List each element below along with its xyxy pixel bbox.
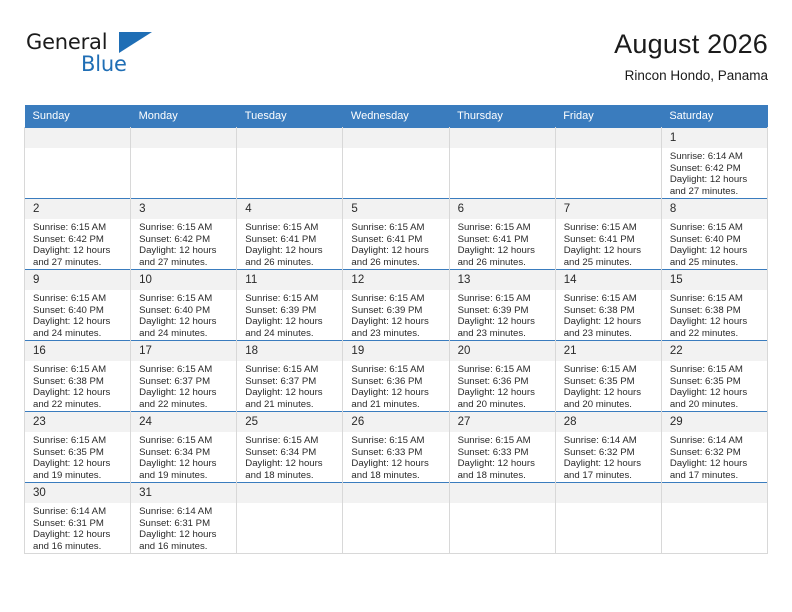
day-number: 1	[662, 128, 767, 148]
sunset-text: Sunset: 6:38 PM	[564, 305, 655, 317]
logo-triangle-icon	[119, 32, 152, 53]
general-blue-logo[interactable]: General Blue	[24, 28, 164, 84]
day-details: Sunrise: 6:14 AMSunset: 6:32 PMDaylight:…	[556, 432, 661, 481]
daylight-text: Daylight: 12 hours and 17 minutes.	[670, 458, 761, 481]
day-number-placeholder	[237, 128, 342, 148]
weekday-header-tuesday: Tuesday	[237, 105, 343, 128]
sunrise-text: Sunrise: 6:15 AM	[564, 364, 655, 376]
sunrise-text: Sunrise: 6:15 AM	[33, 364, 124, 376]
day-details: Sunrise: 6:15 AMSunset: 6:40 PMDaylight:…	[662, 219, 767, 268]
calendar-day-cell[interactable]: 28Sunrise: 6:14 AMSunset: 6:32 PMDayligh…	[555, 412, 661, 483]
sunrise-text: Sunrise: 6:15 AM	[33, 293, 124, 305]
sunset-text: Sunset: 6:39 PM	[245, 305, 336, 317]
sunrise-text: Sunrise: 6:14 AM	[33, 506, 124, 518]
daylight-text: Daylight: 12 hours and 24 minutes.	[245, 316, 336, 339]
daylight-text: Daylight: 12 hours and 26 minutes.	[245, 245, 336, 268]
weekday-header-friday: Friday	[555, 105, 661, 128]
weekday-header-monday: Monday	[131, 105, 237, 128]
day-number-placeholder	[556, 483, 661, 503]
daylight-text: Daylight: 12 hours and 20 minutes.	[458, 387, 549, 410]
calendar-day-cell-empty	[237, 483, 343, 554]
calendar-week-row: 23Sunrise: 6:15 AMSunset: 6:35 PMDayligh…	[25, 412, 768, 483]
sunrise-text: Sunrise: 6:15 AM	[351, 364, 442, 376]
calendar-day-cell[interactable]: 24Sunrise: 6:15 AMSunset: 6:34 PMDayligh…	[131, 412, 237, 483]
calendar-body: 1Sunrise: 6:14 AMSunset: 6:42 PMDaylight…	[25, 128, 768, 554]
day-number: 9	[25, 270, 130, 290]
day-number: 18	[237, 341, 342, 361]
daylight-text: Daylight: 12 hours and 20 minutes.	[670, 387, 761, 410]
sunset-text: Sunset: 6:42 PM	[670, 163, 761, 175]
sunrise-text: Sunrise: 6:15 AM	[245, 293, 336, 305]
calendar-day-cell[interactable]: 7Sunrise: 6:15 AMSunset: 6:41 PMDaylight…	[555, 199, 661, 270]
day-number-placeholder	[556, 128, 661, 148]
sunrise-text: Sunrise: 6:15 AM	[564, 293, 655, 305]
page-subtitle: Rincon Hondo, Panama	[614, 66, 768, 86]
sunrise-text: Sunrise: 6:14 AM	[670, 435, 761, 447]
daylight-text: Daylight: 12 hours and 22 minutes.	[33, 387, 124, 410]
calendar-day-cell[interactable]: 29Sunrise: 6:14 AMSunset: 6:32 PMDayligh…	[661, 412, 767, 483]
day-details: Sunrise: 6:15 AMSunset: 6:42 PMDaylight:…	[25, 219, 130, 268]
day-number: 14	[556, 270, 661, 290]
calendar-day-cell[interactable]: 9Sunrise: 6:15 AMSunset: 6:40 PMDaylight…	[25, 270, 131, 341]
calendar-day-cell-empty	[449, 483, 555, 554]
calendar-day-cell[interactable]: 23Sunrise: 6:15 AMSunset: 6:35 PMDayligh…	[25, 412, 131, 483]
sunset-text: Sunset: 6:42 PM	[139, 234, 230, 246]
day-number: 12	[343, 270, 448, 290]
calendar-day-cell-empty	[343, 128, 449, 199]
calendar-week-row: 2Sunrise: 6:15 AMSunset: 6:42 PMDaylight…	[25, 199, 768, 270]
daylight-text: Daylight: 12 hours and 23 minutes.	[458, 316, 549, 339]
weekday-header-thursday: Thursday	[449, 105, 555, 128]
logo-word-general: General	[26, 30, 107, 54]
sunrise-text: Sunrise: 6:15 AM	[139, 293, 230, 305]
sunset-text: Sunset: 6:31 PM	[33, 518, 124, 530]
day-number: 4	[237, 199, 342, 219]
sunset-text: Sunset: 6:41 PM	[245, 234, 336, 246]
sunrise-text: Sunrise: 6:15 AM	[245, 435, 336, 447]
calendar-day-cell-empty	[555, 483, 661, 554]
calendar-day-cell[interactable]: 3Sunrise: 6:15 AMSunset: 6:42 PMDaylight…	[131, 199, 237, 270]
sunset-text: Sunset: 6:38 PM	[670, 305, 761, 317]
day-details: Sunrise: 6:15 AMSunset: 6:41 PMDaylight:…	[556, 219, 661, 268]
day-number: 28	[556, 412, 661, 432]
sunrise-text: Sunrise: 6:15 AM	[245, 222, 336, 234]
day-number: 30	[25, 483, 130, 503]
sunset-text: Sunset: 6:38 PM	[33, 376, 124, 388]
daylight-text: Daylight: 12 hours and 21 minutes.	[351, 387, 442, 410]
daylight-text: Daylight: 12 hours and 16 minutes.	[33, 529, 124, 552]
daylight-text: Daylight: 12 hours and 26 minutes.	[351, 245, 442, 268]
day-details: Sunrise: 6:15 AMSunset: 6:39 PMDaylight:…	[237, 290, 342, 339]
sunrise-text: Sunrise: 6:14 AM	[670, 151, 761, 163]
day-number: 5	[343, 199, 448, 219]
day-details: Sunrise: 6:15 AMSunset: 6:35 PMDaylight:…	[662, 361, 767, 410]
calendar-day-cell[interactable]: 17Sunrise: 6:15 AMSunset: 6:37 PMDayligh…	[131, 341, 237, 412]
day-number: 31	[131, 483, 236, 503]
day-number-placeholder	[237, 483, 342, 503]
calendar-day-cell[interactable]: 8Sunrise: 6:15 AMSunset: 6:40 PMDaylight…	[661, 199, 767, 270]
day-number-placeholder	[343, 483, 448, 503]
calendar-day-cell[interactable]: 22Sunrise: 6:15 AMSunset: 6:35 PMDayligh…	[661, 341, 767, 412]
calendar-day-cell[interactable]: 14Sunrise: 6:15 AMSunset: 6:38 PMDayligh…	[555, 270, 661, 341]
day-number-placeholder	[343, 128, 448, 148]
day-number: 13	[450, 270, 555, 290]
calendar-day-cell[interactable]: 12Sunrise: 6:15 AMSunset: 6:39 PMDayligh…	[343, 270, 449, 341]
daylight-text: Daylight: 12 hours and 24 minutes.	[139, 316, 230, 339]
sunrise-text: Sunrise: 6:15 AM	[33, 222, 124, 234]
daylight-text: Daylight: 12 hours and 19 minutes.	[139, 458, 230, 481]
day-number: 27	[450, 412, 555, 432]
sunset-text: Sunset: 6:42 PM	[33, 234, 124, 246]
day-details: Sunrise: 6:15 AMSunset: 6:38 PMDaylight:…	[25, 361, 130, 410]
calendar-day-cell[interactable]: 20Sunrise: 6:15 AMSunset: 6:36 PMDayligh…	[449, 341, 555, 412]
calendar-day-cell-empty	[237, 128, 343, 199]
sunset-text: Sunset: 6:37 PM	[245, 376, 336, 388]
calendar-week-row: 30Sunrise: 6:14 AMSunset: 6:31 PMDayligh…	[25, 483, 768, 554]
sunset-text: Sunset: 6:40 PM	[33, 305, 124, 317]
day-number: 7	[556, 199, 661, 219]
day-details: Sunrise: 6:14 AMSunset: 6:31 PMDaylight:…	[25, 503, 130, 552]
day-number-placeholder	[450, 483, 555, 503]
daylight-text: Daylight: 12 hours and 23 minutes.	[564, 316, 655, 339]
sunset-text: Sunset: 6:33 PM	[458, 447, 549, 459]
day-number: 20	[450, 341, 555, 361]
weekday-header-row: Sunday Monday Tuesday Wednesday Thursday…	[25, 105, 768, 128]
calendar-week-row: 1Sunrise: 6:14 AMSunset: 6:42 PMDaylight…	[25, 128, 768, 199]
daylight-text: Daylight: 12 hours and 18 minutes.	[245, 458, 336, 481]
day-number-placeholder	[662, 483, 767, 503]
calendar-day-cell-empty	[661, 483, 767, 554]
day-details: Sunrise: 6:15 AMSunset: 6:36 PMDaylight:…	[343, 361, 448, 410]
sunrise-text: Sunrise: 6:15 AM	[670, 222, 761, 234]
calendar-day-cell[interactable]: 25Sunrise: 6:15 AMSunset: 6:34 PMDayligh…	[237, 412, 343, 483]
calendar-day-cell-empty	[25, 128, 131, 199]
calendar-day-cell[interactable]: 19Sunrise: 6:15 AMSunset: 6:36 PMDayligh…	[343, 341, 449, 412]
daylight-text: Daylight: 12 hours and 23 minutes.	[351, 316, 442, 339]
sunrise-sunset-calendar: Sunday Monday Tuesday Wednesday Thursday…	[24, 105, 768, 554]
sunset-text: Sunset: 6:36 PM	[458, 376, 549, 388]
day-number: 23	[25, 412, 130, 432]
sunset-text: Sunset: 6:41 PM	[351, 234, 442, 246]
sunrise-text: Sunrise: 6:15 AM	[458, 435, 549, 447]
daylight-text: Daylight: 12 hours and 21 minutes.	[245, 387, 336, 410]
day-details: Sunrise: 6:15 AMSunset: 6:37 PMDaylight:…	[237, 361, 342, 410]
day-number: 29	[662, 412, 767, 432]
calendar-day-cell[interactable]: 21Sunrise: 6:15 AMSunset: 6:35 PMDayligh…	[555, 341, 661, 412]
day-number: 19	[343, 341, 448, 361]
calendar-day-cell-empty	[449, 128, 555, 199]
calendar-day-cell[interactable]: 31Sunrise: 6:14 AMSunset: 6:31 PMDayligh…	[131, 483, 237, 554]
daylight-text: Daylight: 12 hours and 22 minutes.	[139, 387, 230, 410]
sunrise-text: Sunrise: 6:15 AM	[670, 364, 761, 376]
sunrise-text: Sunrise: 6:15 AM	[139, 222, 230, 234]
sunrise-text: Sunrise: 6:15 AM	[33, 435, 124, 447]
day-details: Sunrise: 6:15 AMSunset: 6:40 PMDaylight:…	[131, 290, 236, 339]
calendar-day-cell-empty	[343, 483, 449, 554]
day-number: 11	[237, 270, 342, 290]
calendar-day-cell-empty	[131, 128, 237, 199]
daylight-text: Daylight: 12 hours and 17 minutes.	[564, 458, 655, 481]
day-number: 16	[25, 341, 130, 361]
day-number: 6	[450, 199, 555, 219]
sunrise-text: Sunrise: 6:15 AM	[351, 293, 442, 305]
daylight-text: Daylight: 12 hours and 18 minutes.	[351, 458, 442, 481]
day-details: Sunrise: 6:14 AMSunset: 6:32 PMDaylight:…	[662, 432, 767, 481]
title-block: August 2026 Rincon Hondo, Panama	[614, 28, 768, 86]
day-details: Sunrise: 6:15 AMSunset: 6:41 PMDaylight:…	[450, 219, 555, 268]
sunset-text: Sunset: 6:32 PM	[670, 447, 761, 459]
daylight-text: Daylight: 12 hours and 20 minutes.	[564, 387, 655, 410]
day-number: 24	[131, 412, 236, 432]
sunrise-text: Sunrise: 6:15 AM	[458, 222, 549, 234]
day-number: 17	[131, 341, 236, 361]
day-number: 8	[662, 199, 767, 219]
logo-word-blue: Blue	[81, 52, 127, 76]
sunset-text: Sunset: 6:31 PM	[139, 518, 230, 530]
sunrise-text: Sunrise: 6:15 AM	[458, 364, 549, 376]
day-details: Sunrise: 6:15 AMSunset: 6:35 PMDaylight:…	[25, 432, 130, 481]
day-details: Sunrise: 6:15 AMSunset: 6:40 PMDaylight:…	[25, 290, 130, 339]
day-details: Sunrise: 6:15 AMSunset: 6:39 PMDaylight:…	[450, 290, 555, 339]
day-number-placeholder	[450, 128, 555, 148]
day-details: Sunrise: 6:15 AMSunset: 6:36 PMDaylight:…	[450, 361, 555, 410]
day-details: Sunrise: 6:14 AMSunset: 6:42 PMDaylight:…	[662, 148, 767, 197]
day-details: Sunrise: 6:15 AMSunset: 6:38 PMDaylight:…	[662, 290, 767, 339]
calendar-day-cell[interactable]: 10Sunrise: 6:15 AMSunset: 6:40 PMDayligh…	[131, 270, 237, 341]
daylight-text: Daylight: 12 hours and 18 minutes.	[458, 458, 549, 481]
sunset-text: Sunset: 6:35 PM	[564, 376, 655, 388]
calendar-day-cell[interactable]: 4Sunrise: 6:15 AMSunset: 6:41 PMDaylight…	[237, 199, 343, 270]
sunset-text: Sunset: 6:32 PM	[564, 447, 655, 459]
weekday-header-sunday: Sunday	[25, 105, 131, 128]
day-details: Sunrise: 6:15 AMSunset: 6:34 PMDaylight:…	[237, 432, 342, 481]
sunrise-text: Sunrise: 6:14 AM	[564, 435, 655, 447]
calendar-day-cell[interactable]: 15Sunrise: 6:15 AMSunset: 6:38 PMDayligh…	[661, 270, 767, 341]
calendar-day-cell[interactable]: 5Sunrise: 6:15 AMSunset: 6:41 PMDaylight…	[343, 199, 449, 270]
day-details: Sunrise: 6:15 AMSunset: 6:34 PMDaylight:…	[131, 432, 236, 481]
daylight-text: Daylight: 12 hours and 19 minutes.	[33, 458, 124, 481]
calendar-day-cell[interactable]: 16Sunrise: 6:15 AMSunset: 6:38 PMDayligh…	[25, 341, 131, 412]
calendar-week-row: 16Sunrise: 6:15 AMSunset: 6:38 PMDayligh…	[25, 341, 768, 412]
day-number: 21	[556, 341, 661, 361]
sunrise-text: Sunrise: 6:15 AM	[139, 364, 230, 376]
sunrise-text: Sunrise: 6:15 AM	[670, 293, 761, 305]
page-header: General Blue August 2026 Rincon Hondo, P…	[24, 28, 768, 100]
sunrise-text: Sunrise: 6:15 AM	[351, 435, 442, 447]
day-number: 2	[25, 199, 130, 219]
sunrise-text: Sunrise: 6:15 AM	[245, 364, 336, 376]
calendar-day-cell[interactable]: 30Sunrise: 6:14 AMSunset: 6:31 PMDayligh…	[25, 483, 131, 554]
calendar-day-cell[interactable]: 26Sunrise: 6:15 AMSunset: 6:33 PMDayligh…	[343, 412, 449, 483]
day-number-placeholder	[131, 128, 236, 148]
day-number: 26	[343, 412, 448, 432]
sunrise-text: Sunrise: 6:15 AM	[458, 293, 549, 305]
sunrise-text: Sunrise: 6:15 AM	[351, 222, 442, 234]
day-details: Sunrise: 6:15 AMSunset: 6:33 PMDaylight:…	[343, 432, 448, 481]
daylight-text: Daylight: 12 hours and 26 minutes.	[458, 245, 549, 268]
daylight-text: Daylight: 12 hours and 24 minutes.	[33, 316, 124, 339]
daylight-text: Daylight: 12 hours and 16 minutes.	[139, 529, 230, 552]
page-title: August 2026	[614, 28, 768, 60]
day-details: Sunrise: 6:15 AMSunset: 6:42 PMDaylight:…	[131, 219, 236, 268]
sunset-text: Sunset: 6:34 PM	[245, 447, 336, 459]
sunrise-text: Sunrise: 6:15 AM	[564, 222, 655, 234]
weekday-header-wednesday: Wednesday	[343, 105, 449, 128]
day-details: Sunrise: 6:15 AMSunset: 6:41 PMDaylight:…	[343, 219, 448, 268]
day-details: Sunrise: 6:14 AMSunset: 6:31 PMDaylight:…	[131, 503, 236, 552]
sunset-text: Sunset: 6:35 PM	[670, 376, 761, 388]
weekday-header-saturday: Saturday	[661, 105, 767, 128]
calendar-day-cell-empty	[555, 128, 661, 199]
calendar-page: General Blue August 2026 Rincon Hondo, P…	[0, 0, 792, 612]
calendar-day-cell[interactable]: 18Sunrise: 6:15 AMSunset: 6:37 PMDayligh…	[237, 341, 343, 412]
daylight-text: Daylight: 12 hours and 22 minutes.	[670, 316, 761, 339]
calendar-day-cell[interactable]: 27Sunrise: 6:15 AMSunset: 6:33 PMDayligh…	[449, 412, 555, 483]
calendar-day-cell[interactable]: 2Sunrise: 6:15 AMSunset: 6:42 PMDaylight…	[25, 199, 131, 270]
sunset-text: Sunset: 6:39 PM	[351, 305, 442, 317]
sunset-text: Sunset: 6:41 PM	[458, 234, 549, 246]
calendar-week-row: 9Sunrise: 6:15 AMSunset: 6:40 PMDaylight…	[25, 270, 768, 341]
calendar-day-cell[interactable]: 6Sunrise: 6:15 AMSunset: 6:41 PMDaylight…	[449, 199, 555, 270]
calendar-day-cell[interactable]: 1Sunrise: 6:14 AMSunset: 6:42 PMDaylight…	[661, 128, 767, 199]
sunset-text: Sunset: 6:37 PM	[139, 376, 230, 388]
sunset-text: Sunset: 6:34 PM	[139, 447, 230, 459]
daylight-text: Daylight: 12 hours and 27 minutes.	[33, 245, 124, 268]
sunset-text: Sunset: 6:35 PM	[33, 447, 124, 459]
sunrise-text: Sunrise: 6:14 AM	[139, 506, 230, 518]
day-details: Sunrise: 6:15 AMSunset: 6:39 PMDaylight:…	[343, 290, 448, 339]
sunset-text: Sunset: 6:41 PM	[564, 234, 655, 246]
sunset-text: Sunset: 6:40 PM	[139, 305, 230, 317]
daylight-text: Daylight: 12 hours and 27 minutes.	[139, 245, 230, 268]
daylight-text: Daylight: 12 hours and 25 minutes.	[564, 245, 655, 268]
day-details: Sunrise: 6:15 AMSunset: 6:35 PMDaylight:…	[556, 361, 661, 410]
day-number-placeholder	[25, 128, 130, 148]
day-number: 10	[131, 270, 236, 290]
day-number: 25	[237, 412, 342, 432]
day-number: 3	[131, 199, 236, 219]
day-details: Sunrise: 6:15 AMSunset: 6:38 PMDaylight:…	[556, 290, 661, 339]
calendar-day-cell[interactable]: 11Sunrise: 6:15 AMSunset: 6:39 PMDayligh…	[237, 270, 343, 341]
sunset-text: Sunset: 6:40 PM	[670, 234, 761, 246]
sunset-text: Sunset: 6:36 PM	[351, 376, 442, 388]
sunset-text: Sunset: 6:39 PM	[458, 305, 549, 317]
day-number: 22	[662, 341, 767, 361]
daylight-text: Daylight: 12 hours and 25 minutes.	[670, 245, 761, 268]
day-details: Sunrise: 6:15 AMSunset: 6:37 PMDaylight:…	[131, 361, 236, 410]
calendar-day-cell[interactable]: 13Sunrise: 6:15 AMSunset: 6:39 PMDayligh…	[449, 270, 555, 341]
sunset-text: Sunset: 6:33 PM	[351, 447, 442, 459]
sunrise-text: Sunrise: 6:15 AM	[139, 435, 230, 447]
daylight-text: Daylight: 12 hours and 27 minutes.	[670, 174, 761, 197]
day-details: Sunrise: 6:15 AMSunset: 6:33 PMDaylight:…	[450, 432, 555, 481]
day-number: 15	[662, 270, 767, 290]
day-details: Sunrise: 6:15 AMSunset: 6:41 PMDaylight:…	[237, 219, 342, 268]
